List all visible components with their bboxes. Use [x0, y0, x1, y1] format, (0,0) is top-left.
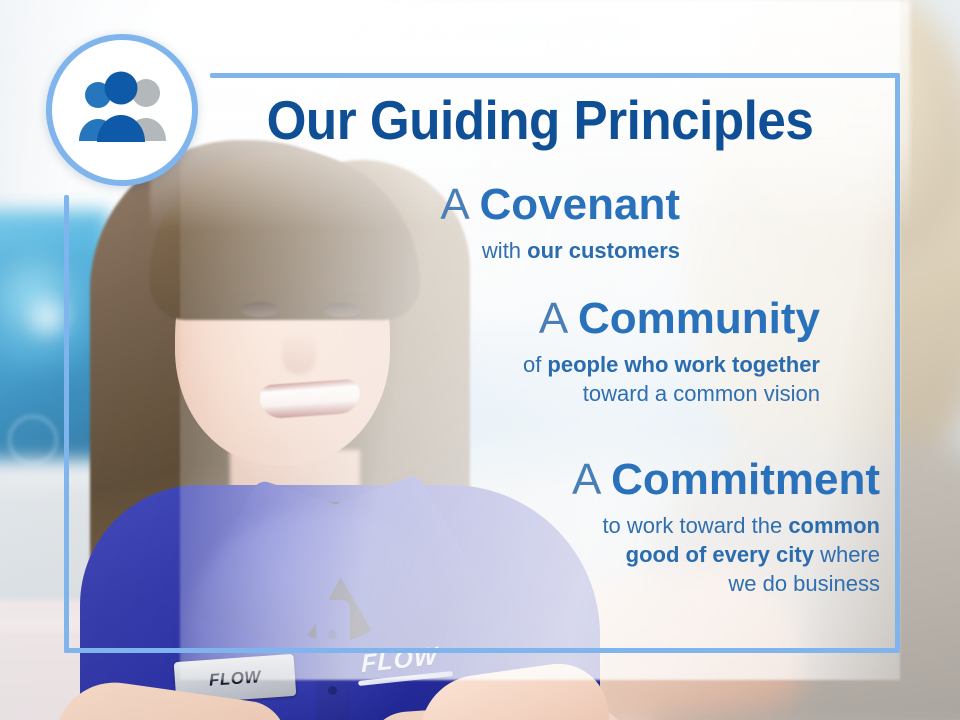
principle-keyword: Community [578, 294, 820, 343]
principle-covenant-heading: A Covenant [200, 182, 680, 229]
principle-covenant: A Covenant with our customers [200, 182, 680, 265]
subtext-line: of people who work together [240, 350, 820, 379]
principle-commitment-subtext: to work toward the common good of every … [300, 511, 880, 598]
principle-community-heading: A Community [240, 296, 820, 343]
subtext-tail: where [814, 542, 880, 567]
principle-community-subtext: of people who work together toward a com… [240, 350, 820, 408]
page-title: Our Guiding Principles [224, 93, 856, 148]
text-content: Our Guiding Principles A Covenant with o… [0, 0, 960, 720]
subtext-lead: of [523, 352, 547, 377]
principle-article: A [572, 455, 599, 504]
subtext-line: to work toward the common [300, 511, 880, 540]
principle-article: A [539, 294, 566, 343]
principle-keyword: Commitment [611, 455, 880, 504]
principle-keyword: Covenant [480, 180, 680, 229]
principle-covenant-subtext: with our customers [200, 236, 680, 265]
principle-commitment-heading: A Commitment [300, 457, 880, 504]
principle-community: A Community of people who work together … [240, 296, 820, 408]
subtext-line: toward a common vision [240, 379, 820, 408]
subtext-line: we do business [300, 569, 880, 598]
subtext-emphasis: people who work together [547, 352, 820, 377]
subtext-emphasis: good of every city [626, 542, 814, 567]
subtext-emphasis: common [788, 513, 880, 538]
principle-commitment: A Commitment to work toward the common g… [300, 457, 880, 598]
principle-article: A [440, 180, 467, 229]
subtext-line: good of every city where [300, 540, 880, 569]
subtext-lead: to work toward the [602, 513, 788, 538]
subtext-emphasis: our customers [527, 238, 680, 263]
banner-root: FLOW FLOW [0, 0, 960, 720]
subtext-lead: with [482, 238, 527, 263]
